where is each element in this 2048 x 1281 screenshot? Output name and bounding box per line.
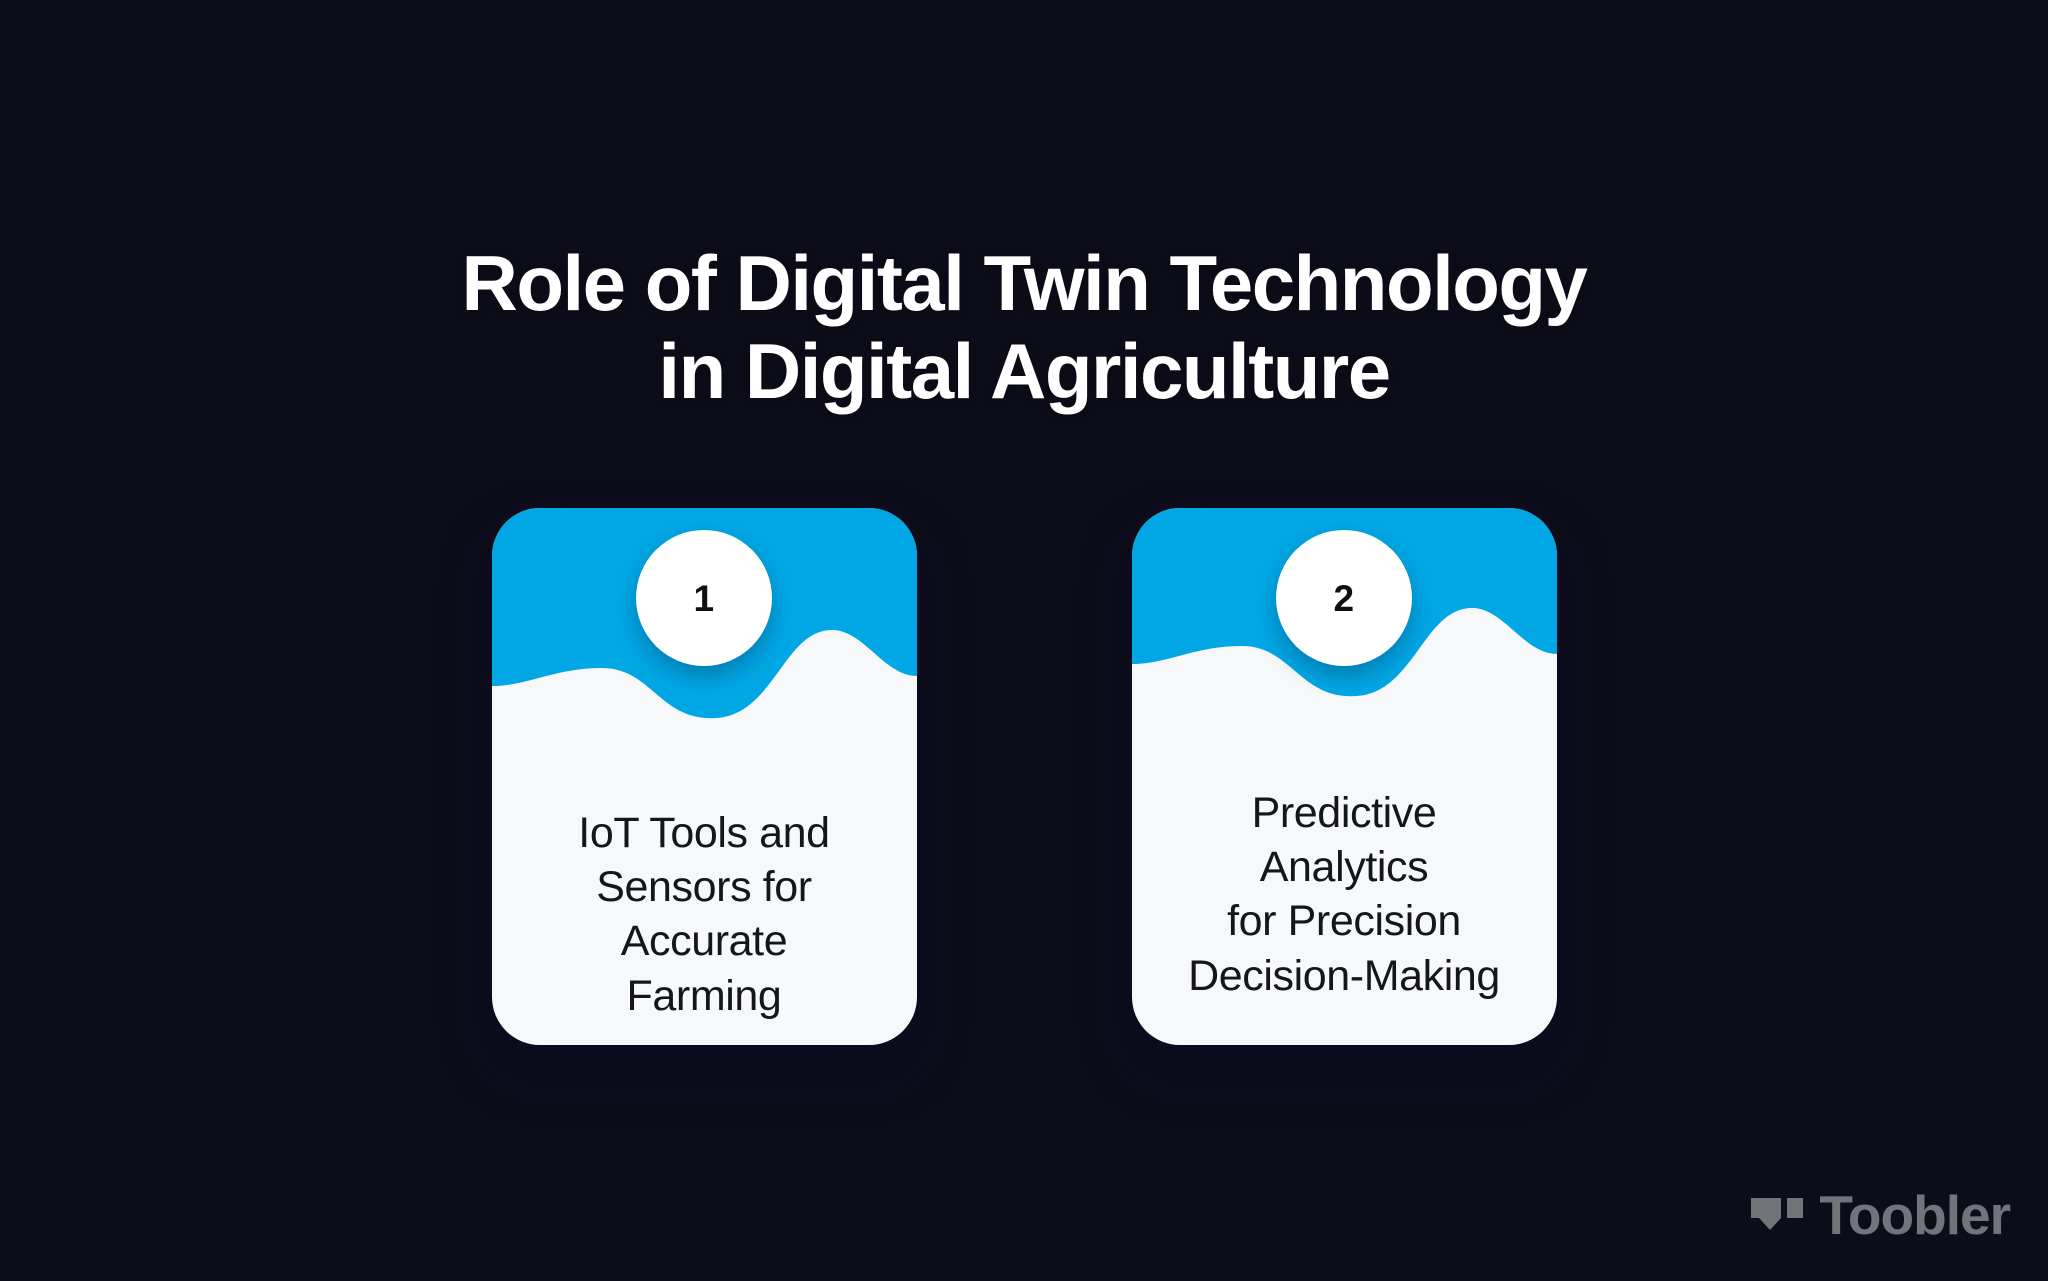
card-list: 1 IoT Tools and Sensors for Accurate Far… [0, 508, 2048, 1045]
toobler-logo-mark-icon [1751, 1196, 1803, 1236]
card-number-1: 1 [693, 580, 714, 617]
card-text-line: Accurate [514, 914, 895, 968]
card-text-2: Predictive Analytics for Precision Decis… [1132, 786, 1557, 1003]
card-text-line: Sensors for [514, 860, 895, 914]
card-text-line: for Precision [1154, 894, 1535, 948]
card-text-1: IoT Tools and Sensors for Accurate Farmi… [492, 806, 917, 1023]
page-title-line-2: in Digital Agriculture [200, 328, 1848, 415]
slide-canvas: Role of Digital Twin Technology in Digit… [0, 0, 2048, 1281]
page-title: Role of Digital Twin Technology in Digit… [0, 240, 2048, 415]
card-text-line: Predictive [1154, 786, 1535, 840]
info-card-1[interactable]: 1 IoT Tools and Sensors for Accurate Far… [492, 508, 917, 1045]
card-number-badge-1: 1 [636, 530, 772, 666]
brand-logo[interactable]: Toobler [1751, 1188, 2010, 1243]
brand-logo-text: Toobler [1819, 1188, 2010, 1243]
info-card-2[interactable]: 2 Predictive Analytics for Precision Dec… [1132, 508, 1557, 1045]
card-text-line: Decision-Making [1154, 949, 1535, 1003]
card-number-badge-2: 2 [1276, 530, 1412, 666]
card-text-line: IoT Tools and [514, 806, 895, 860]
page-title-line-1: Role of Digital Twin Technology [200, 240, 1848, 327]
card-number-2: 2 [1333, 580, 1354, 617]
card-text-line: Analytics [1154, 840, 1535, 894]
card-text-line: Farming [514, 969, 895, 1023]
